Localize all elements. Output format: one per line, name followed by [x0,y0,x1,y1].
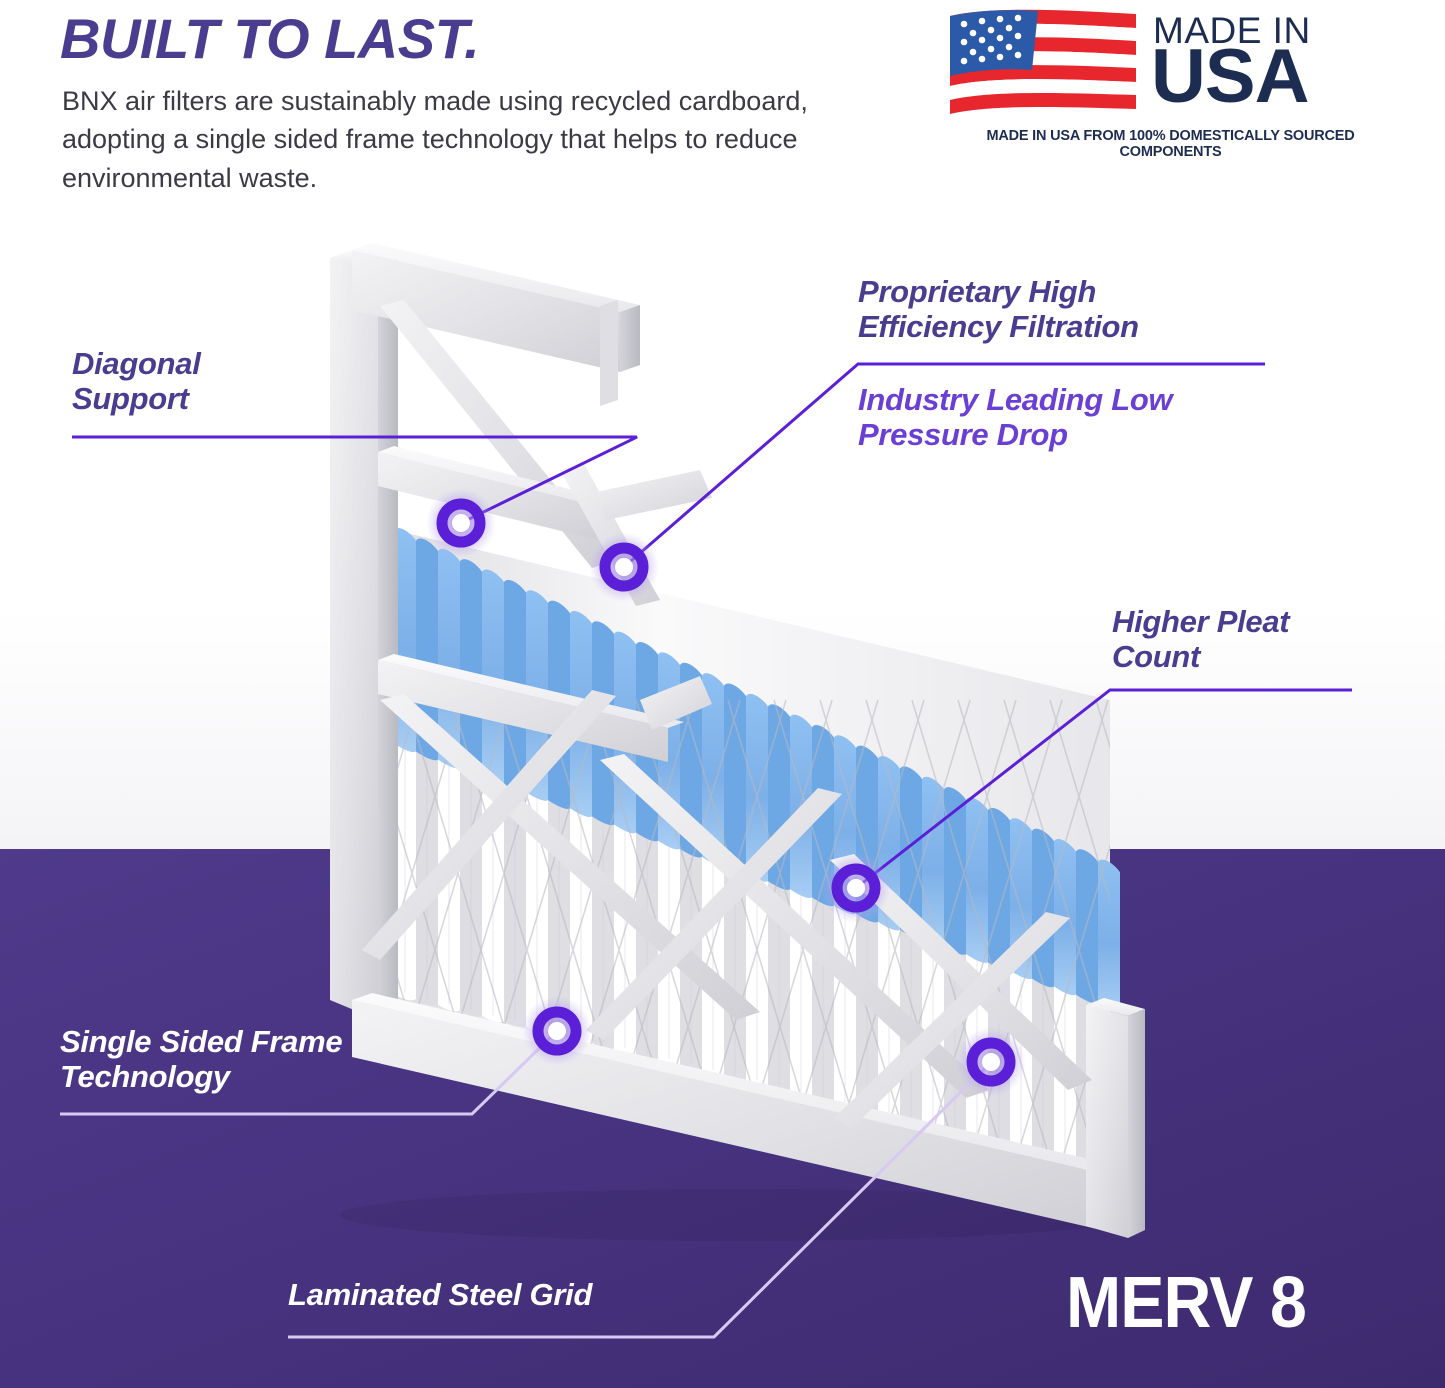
callout-label-single-sided-frame: Single Sided Frame Technology [60,1024,342,1095]
intro-paragraph: BNX air filters are sustainably made usi… [62,82,862,197]
callout-label-proprietary-filtration: Proprietary High Efficiency Filtration [858,274,1139,345]
callout-leader-lines [0,0,1445,1388]
made-in-usa-badge: MADE IN USA MADE IN USA FROM 100% DOMEST… [948,6,1393,146]
usa-flag-icon [948,8,1138,120]
marker-single-sided-frame [522,996,592,1066]
badge-disclaimer: MADE IN USA FROM 100% DOMESTICALLY SOURC… [948,128,1393,160]
page-title: BUILT TO LAST. [60,6,479,71]
callout-label-laminated-steel-grid: Laminated Steel Grid [288,1277,592,1312]
infographic-root: BUILT TO LAST. BNX air filters are susta… [0,0,1445,1388]
callout-markers [426,488,1026,1097]
callout-label-low-pressure-drop: Industry Leading Low Pressure Drop [858,382,1172,453]
merv-rating-badge: MERV 8 [1066,1262,1306,1344]
marker-higher-pleat-count [821,853,891,923]
leader-higher-pleat-count [856,690,1352,888]
marker-diagonal-support [426,488,496,558]
callout-label-diagonal-support: Diagonal Support [72,346,201,417]
marker-laminated-steel-grid [956,1027,1026,1097]
leader-diagonal-support [72,437,637,523]
marker-proprietary [589,532,659,602]
callout-label-higher-pleat-count: Higher Pleat Count [1112,604,1289,675]
badge-usa-text: USA [1151,42,1308,112]
